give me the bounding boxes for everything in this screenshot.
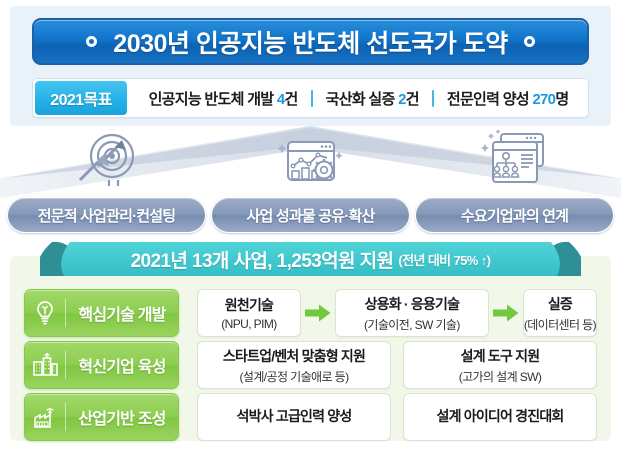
pillar-label: 수요기업과의 연계 — [461, 205, 568, 226]
target-arrow-icon — [3, 128, 210, 190]
ribbon-text-wrap: 2021년 13개 사업, 1,253억원 지원 (전년 대비 75% ↑) — [52, 241, 569, 277]
goal-row: 2021목표 인공지능 반도체 개발 4건 국산화 실증 2건 전문인력 양성 … — [32, 78, 589, 118]
program-card-title: 설계 도구 지원 — [461, 346, 540, 366]
arrow-right-icon — [489, 289, 523, 337]
goal-number: 270 — [532, 91, 555, 108]
circle-dot-icon — [524, 36, 535, 47]
goal-text-before: 전문인력 양성 — [447, 91, 533, 108]
pillar-pill[interactable]: 전문적 사업관리·컨설팅 — [7, 197, 206, 233]
vision-panel: 2030년 인공지능 반도체 선도국가 도약 2021목표 인공지능 반도체 개… — [10, 6, 611, 126]
goal-item: 인공지능 반도체 개발 4건 — [136, 88, 311, 109]
program-card-title: 스타트업/벤처 맞춤형 지원 — [223, 346, 365, 366]
goal-item: 전문인력 양성 270명 — [434, 88, 582, 109]
pillar-label: 전문적 사업관리·컨설팅 — [38, 205, 176, 226]
vision-banner: 2030년 인공지능 반도체 선도국가 도약 — [32, 18, 589, 65]
goal-year-badge: 2021목표 — [35, 81, 127, 115]
vision-title: 2030년 인공지능 반도체 선도국가 도약 — [113, 24, 507, 60]
goal-text-before: 국산화 실증 — [326, 91, 398, 108]
program-card[interactable]: 실증 (데이터센터 등) — [523, 289, 597, 337]
program-category-button[interactable]: 혁신기업 육성 — [24, 341, 179, 389]
goal-text-after: 명 — [555, 91, 568, 108]
ribbon-main-label: 2021년 13개 사업, 1,253억원 지원 — [131, 246, 394, 273]
program-card-title: 실증 — [548, 294, 572, 314]
program-card[interactable]: 설계 도구 지원 (고가의 설계 SW) — [403, 341, 597, 389]
program-card[interactable]: 설계 아이디어 경진대회 — [403, 393, 597, 441]
goal-number: 4 — [277, 91, 285, 108]
goal-text-after: 건 — [285, 91, 298, 108]
program-card-title: 설계 아이디어 경진대회 — [437, 406, 564, 426]
org-chart-window-icon — [411, 128, 618, 190]
program-row: 산업기반 조성 석박사 고급인력 양성 설계 아이디어 경진대회 — [24, 393, 597, 441]
factory-signal-icon — [25, 351, 66, 379]
goal-item: 국산화 실증 2건 — [313, 88, 432, 109]
program-row: 혁신기업 육성 스타트업/벤처 맞춤형 지원 (설계/공정 기술애로 등) 설계… — [24, 341, 597, 389]
pillar-label: 사업 성과물 공유·확산 — [247, 205, 375, 226]
goal-year-badge-label: 2021목표 — [50, 86, 111, 110]
lightbulb-icon — [25, 299, 66, 327]
program-card-title: 원천기술 — [225, 295, 273, 315]
program-card-title: 상용화 · 응용기술 — [365, 294, 460, 314]
factory-wifi-icon — [25, 403, 66, 431]
pillar-2: 사업 성과물 공유·확산 — [207, 126, 414, 238]
program-category-button[interactable]: 핵심기술 개발 — [24, 289, 179, 337]
goal-text-after: 건 — [406, 91, 419, 108]
circle-dot-icon — [86, 36, 97, 47]
program-card-sub: (NPU, PIM) — [221, 317, 276, 331]
program-row: 핵심기술 개발 원천기술 (NPU, PIM) 상용화 · 응용기술 (기술이전… — [24, 289, 597, 337]
chart-gear-icon — [207, 128, 414, 190]
program-card[interactable]: 스타트업/벤처 맞춤형 지원 (설계/공정 기술애로 등) — [197, 341, 391, 389]
program-category-label: 핵심기술 개발 — [66, 301, 178, 325]
program-card-sub: (데이터센터 등) — [524, 316, 596, 333]
program-card[interactable]: 원천기술 (NPU, PIM) — [197, 289, 301, 337]
goal-items: 인공지능 반도체 개발 4건 국산화 실증 2건 전문인력 양성 270명 — [129, 79, 588, 117]
program-card[interactable]: 상용화 · 응용기술 (기술이전, SW 기술) — [335, 289, 489, 337]
pillars-section: 전문적 사업관리·컨설팅 — [0, 126, 621, 238]
program-category-label: 혁신기업 육성 — [66, 353, 178, 377]
program-card-sub: (고가의 설계 SW) — [459, 368, 542, 385]
program-card-sub: (기술이전, SW 기술) — [364, 316, 460, 333]
program-card-title: 석박사 고급인력 양성 — [237, 406, 352, 426]
pillar-3: 수요기업과의 연계 — [411, 126, 618, 238]
program-card-sub: (설계/공정 기술애로 등) — [240, 368, 349, 385]
goal-text-before: 인공지능 반도체 개발 — [149, 91, 277, 108]
program-category-label: 산업기반 조성 — [66, 405, 178, 429]
ribbon-sub-label: (전년 대비 75% ↑) — [398, 250, 490, 269]
goal-number: 2 — [398, 91, 406, 108]
pillar-pill[interactable]: 수요기업과의 연계 — [415, 197, 614, 233]
program-category-button[interactable]: 산업기반 조성 — [24, 393, 179, 441]
arrow-right-icon — [301, 289, 335, 337]
pillar-pill[interactable]: 사업 성과물 공유·확산 — [211, 197, 410, 233]
pillar-1: 전문적 사업관리·컨설팅 — [3, 126, 210, 238]
program-card[interactable]: 석박사 고급인력 양성 — [197, 393, 391, 441]
